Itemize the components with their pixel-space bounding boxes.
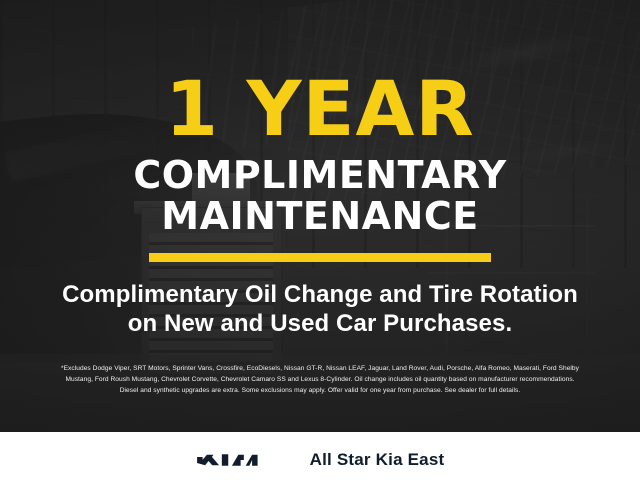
banner-content: 1 YEAR COMPLIMENTARY MAINTENANCE Complim… [0,0,640,432]
disclaimer-line-1: *Excludes Dodge Viper, SRT Motors, Sprin… [11,364,629,375]
dealer-footer: All Star Kia East [0,432,640,488]
disclaimer-line-2: Mustang, Ford Roush Mustang, Chevrolet C… [11,375,629,386]
promotional-banner: 1 YEAR COMPLIMENTARY MAINTENANCE Complim… [0,0,640,488]
dealer-name: All Star Kia East [310,450,445,470]
headline-complimentary: COMPLIMENTARY [133,156,506,195]
yellow-divider-bar [149,253,491,262]
headline-maintenance: MAINTENANCE [161,197,478,236]
kia-logo-icon [196,449,288,471]
disclaimer-text: *Excludes Dodge Viper, SRT Motors, Sprin… [11,364,629,396]
promo-line-1: Complimentary Oil Change and Tire Rotati… [62,280,578,309]
headline-year: 1 YEAR [165,78,475,140]
promo-line-2: on New and Used Car Purchases. [128,309,512,338]
disclaimer-line-3: Diesel and synthetic upgrades are extra.… [11,386,629,397]
